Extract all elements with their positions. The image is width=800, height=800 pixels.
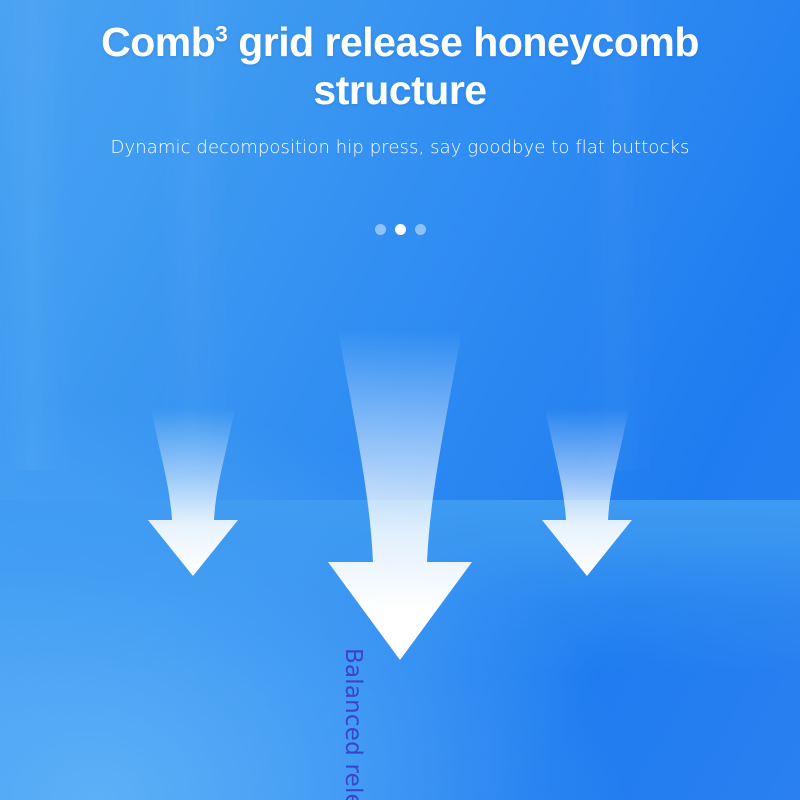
carousel-dot-1[interactable] xyxy=(375,224,386,235)
pressure-arrow-right xyxy=(512,408,662,588)
header: Comb3 grid release honeycomb structure D… xyxy=(0,0,800,158)
promo-slide: Comb3 grid release honeycomb structure D… xyxy=(0,0,800,800)
page-subtitle: Dynamic decomposition hip press, say goo… xyxy=(0,137,800,158)
pressure-caption: Balanced release of pressure on the hips xyxy=(340,648,366,800)
page-title: Comb3 grid release honeycomb structure xyxy=(0,0,800,115)
page-title-rest: grid release honeycomb structure xyxy=(227,19,699,113)
page-title-superscript: 3 xyxy=(215,21,227,46)
pressure-diagram: Balanced release of pressure on the hips xyxy=(0,300,800,800)
pressure-arrow-left xyxy=(118,408,268,588)
page-title-main: Comb xyxy=(101,19,215,65)
carousel-dot-3[interactable] xyxy=(415,224,426,235)
pressure-arrow-center xyxy=(300,330,500,680)
carousel-dot-2[interactable] xyxy=(395,224,406,235)
carousel-dots[interactable] xyxy=(0,224,800,235)
